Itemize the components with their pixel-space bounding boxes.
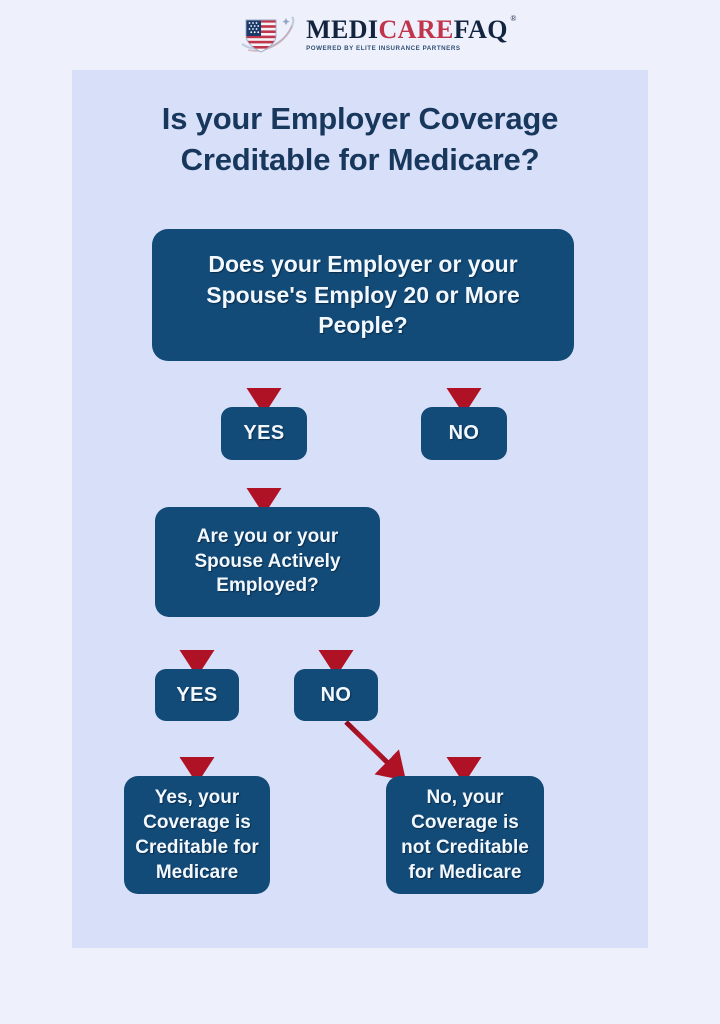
brand-header: MEDICAREFAQ® POWERED BY ELITE INSURANCE …: [0, 0, 720, 70]
label-node-no-actively-employed[interactable]: NO: [294, 669, 378, 721]
label-node-yes-actively-employed[interactable]: YES: [155, 669, 239, 721]
q2-line-1: Are you or your: [194, 525, 340, 550]
page-title: Is your Employer Coverage Creditable for…: [72, 98, 648, 180]
result-no-line-1: No, your: [401, 785, 529, 810]
q1-line-1: Does your Employer or your: [206, 249, 520, 280]
logo-word-faq: FAQ: [454, 15, 508, 44]
logo-word-care: CARE: [378, 15, 453, 44]
logo-word-medi: MEDI: [306, 15, 378, 44]
registered-trademark-icon: ®: [510, 15, 516, 23]
result-yes-line-4: Medicare: [135, 860, 259, 885]
result-no-line-3: not Creditable: [401, 835, 529, 860]
label-node-no-employer-size[interactable]: NO: [421, 407, 507, 460]
q2-line-3: Employed?: [194, 574, 340, 599]
logo-text-block: MEDICAREFAQ® POWERED BY ELITE INSURANCE …: [306, 17, 508, 52]
result-no-line-2: Coverage is: [401, 810, 529, 835]
q2-line-2: Spouse Actively: [194, 550, 340, 575]
logo[interactable]: MEDICAREFAQ® POWERED BY ELITE INSURANCE …: [240, 14, 508, 56]
q1-line-3: People?: [206, 310, 520, 341]
result-yes-line-1: Yes, your: [135, 785, 259, 810]
label-node-yes-employer-size[interactable]: YES: [221, 407, 307, 460]
page-title-line-2: Creditable for Medicare?: [72, 139, 648, 180]
us-flag-shield-icon: [240, 14, 302, 56]
logo-tagline: POWERED BY ELITE INSURANCE PARTNERS: [306, 46, 460, 52]
q1-line-2: Spouse's Employ 20 or More: [206, 280, 520, 311]
outcome-node-creditable[interactable]: Yes, your Coverage is Creditable for Med…: [124, 776, 270, 894]
logo-wordmark: MEDICAREFAQ®: [306, 17, 508, 43]
result-yes-line-2: Coverage is: [135, 810, 259, 835]
page-title-line-1: Is your Employer Coverage: [72, 98, 648, 139]
result-yes-line-3: Creditable for: [135, 835, 259, 860]
outcome-node-not-creditable[interactable]: No, your Coverage is not Creditable for …: [386, 776, 544, 894]
result-no-line-4: for Medicare: [401, 860, 529, 885]
decision-node-employer-size[interactable]: Does your Employer or your Spouse's Empl…: [152, 229, 574, 361]
decision-node-actively-employed[interactable]: Are you or your Spouse Actively Employed…: [155, 507, 380, 617]
